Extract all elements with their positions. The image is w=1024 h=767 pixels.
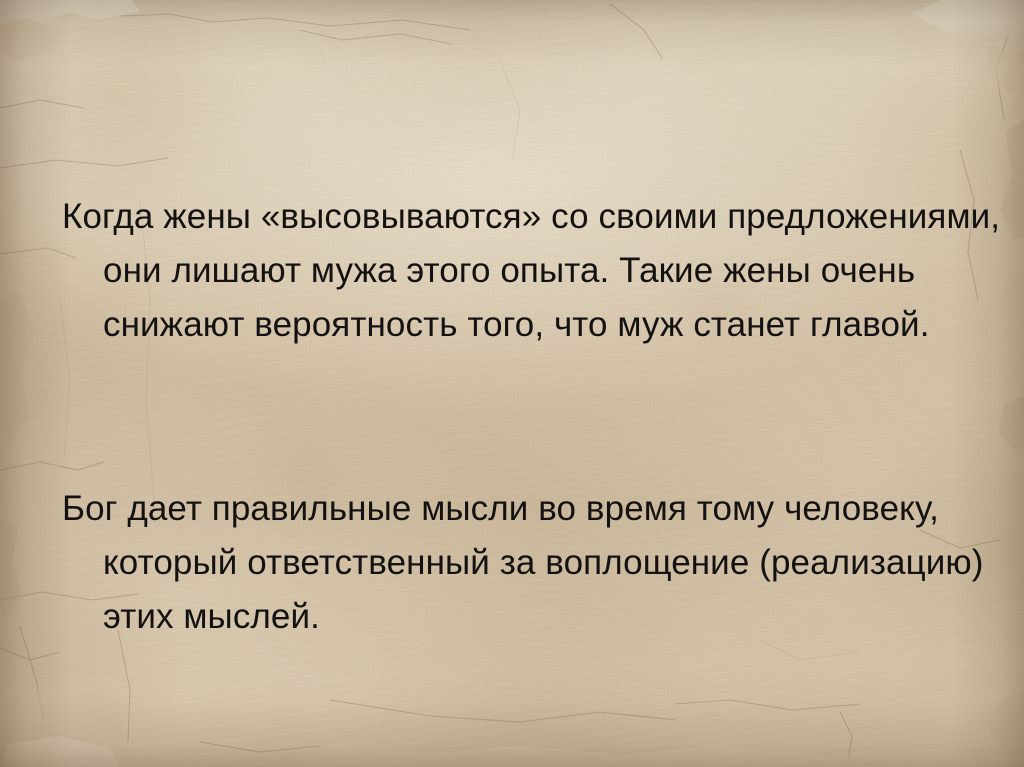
paragraph-1: Когда жены «высовываются» со своими пред… (62, 190, 1003, 352)
slide-text-content: Когда жены «высовываются» со своими пред… (0, 0, 1024, 767)
paragraph-2: Бог дает правильные мысли во время тому … (62, 482, 1003, 644)
slide-canvas: Когда жены «высовываются» со своими пред… (0, 0, 1024, 767)
